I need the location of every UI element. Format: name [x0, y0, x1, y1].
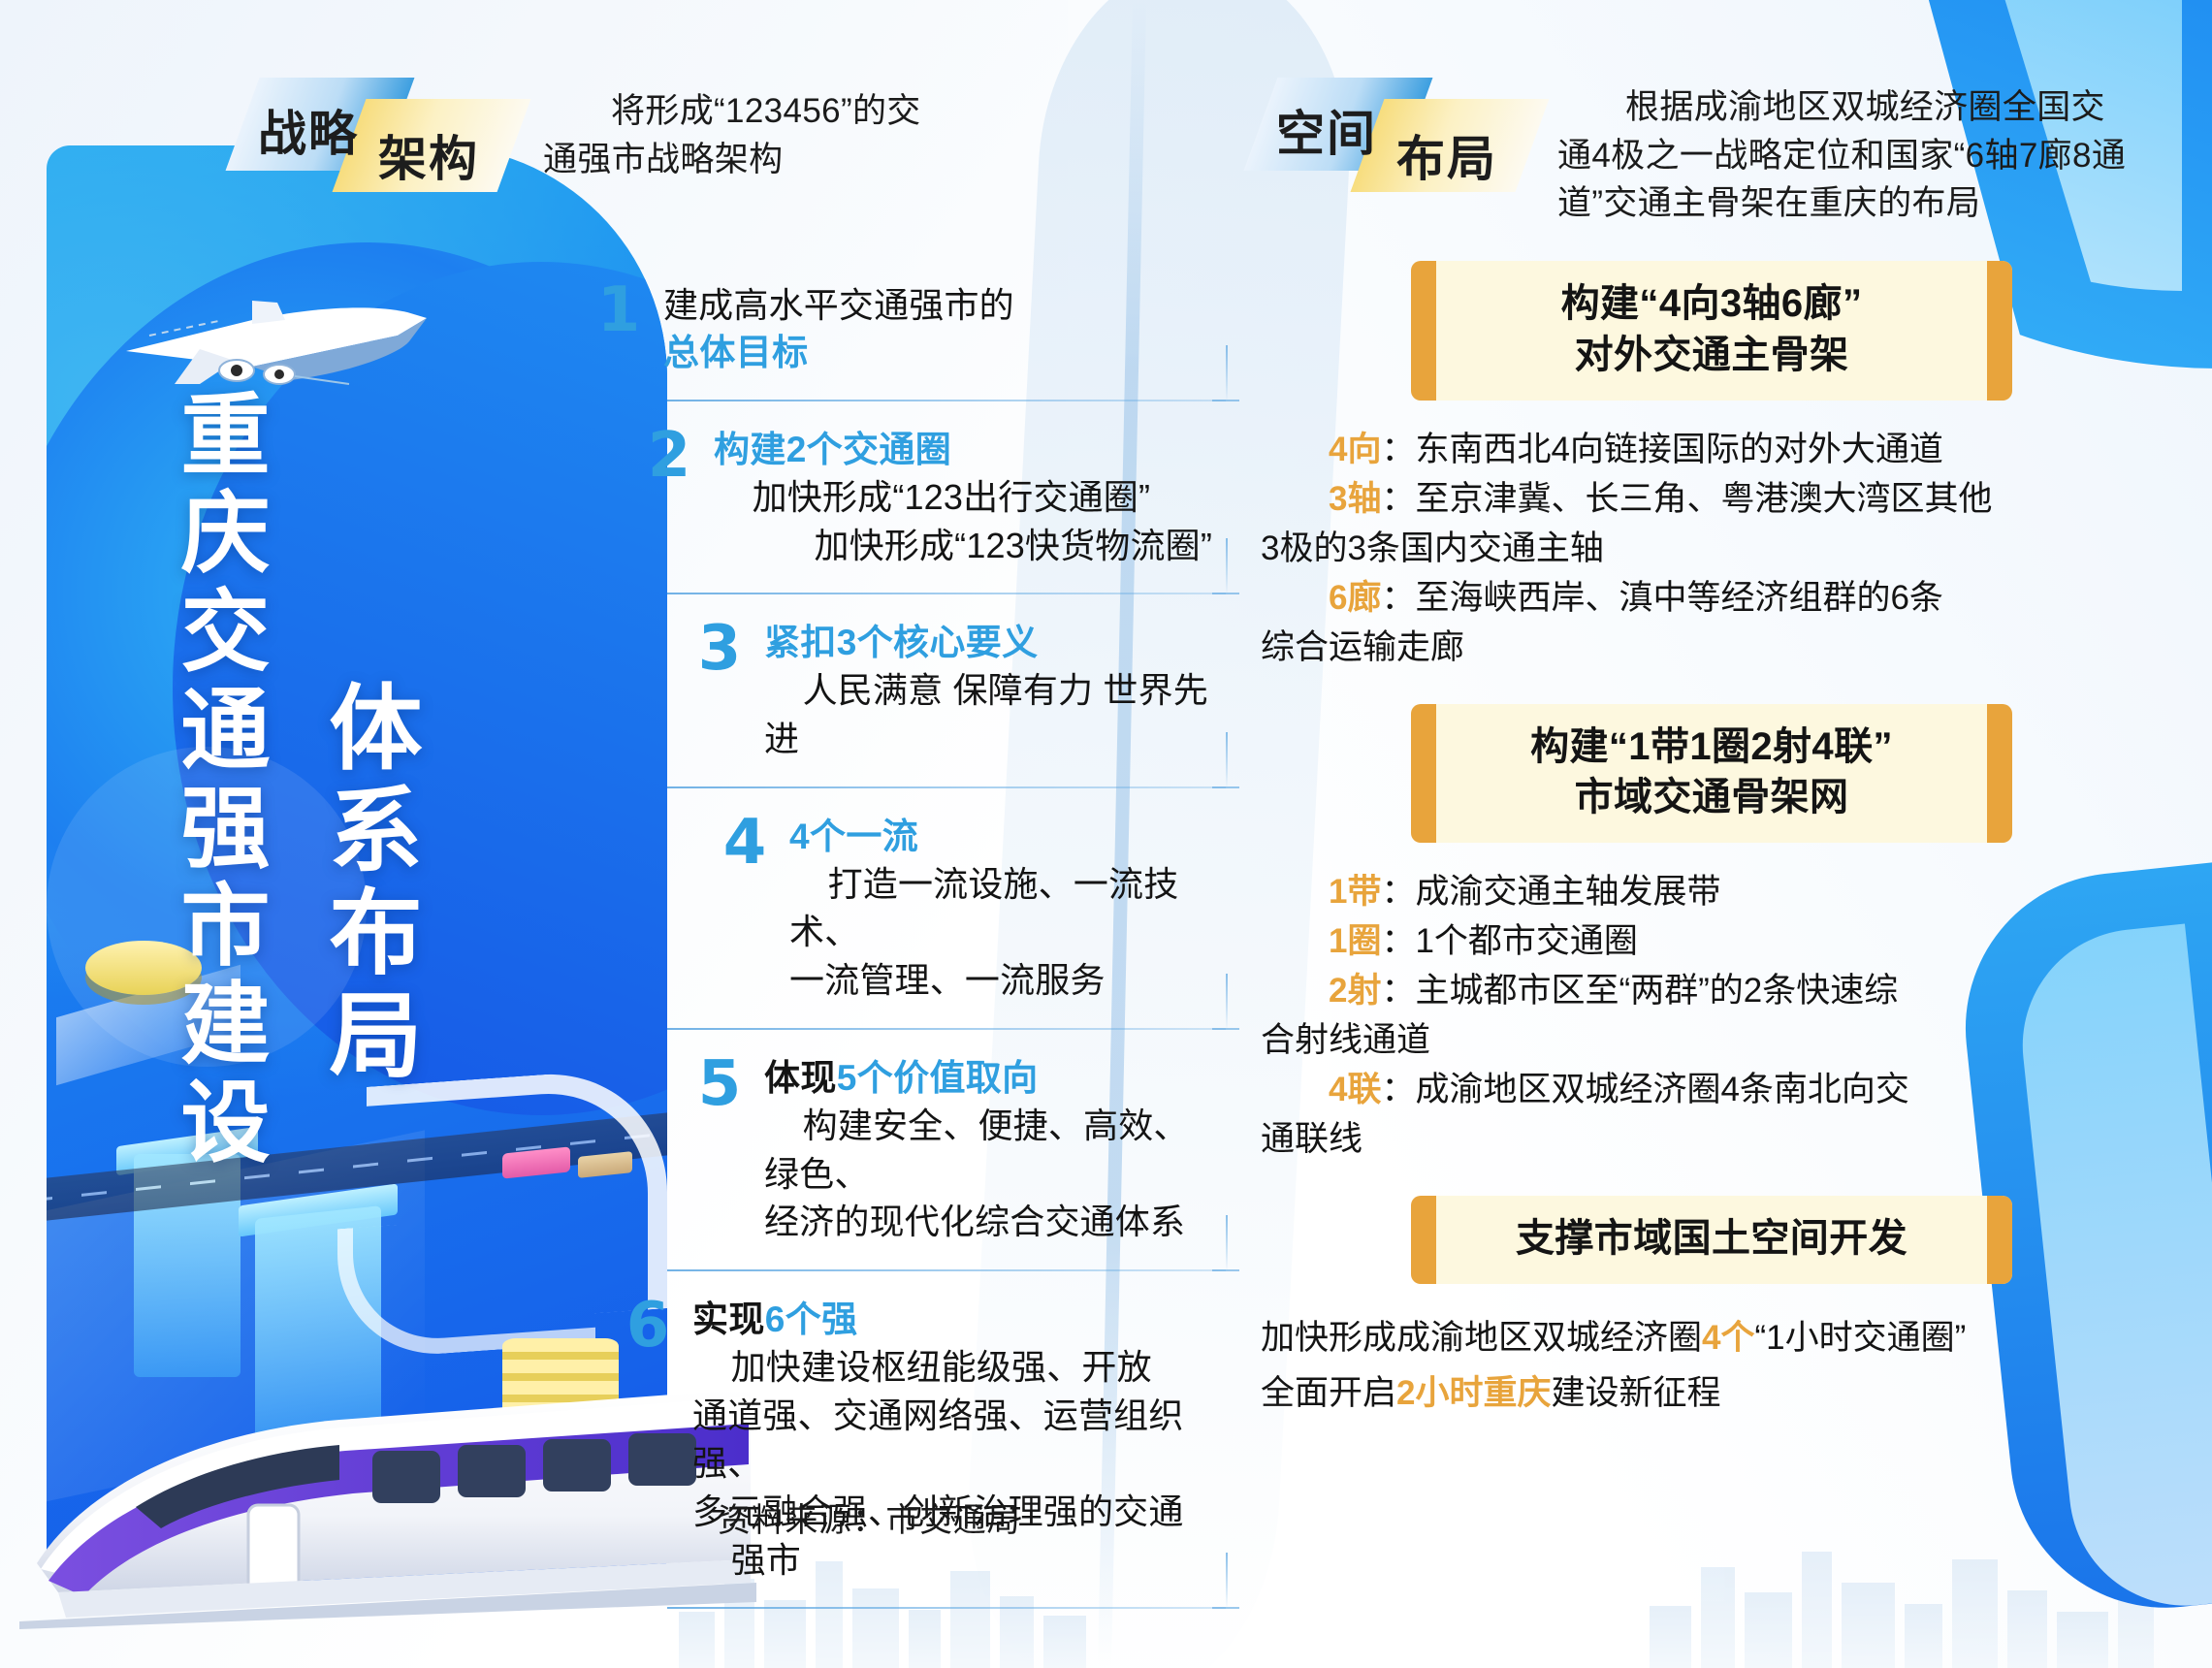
detail-label: 1带: [1329, 873, 1381, 911]
airplane-icon: [107, 291, 436, 407]
closing-2c: 建设新征程: [1551, 1374, 1720, 1412]
framework-box-1: 构建“4向3轴6廊” 对外交通主骨架: [1411, 261, 2012, 401]
item-title-accent: 6个强: [765, 1299, 858, 1339]
detail-text: ：主城都市区至“两群”的2条快速综: [1381, 972, 1898, 1010]
detail-text: ：至京津冀、长三角、粤港澳大湾区其他: [1381, 480, 1992, 518]
list-item: 2 构建2个交通圈 加快形成“123出行交通圈” 加快形成“123快货物流圈”: [592, 427, 1212, 594]
poster-canvas: 重庆交通强市建设 体系布局 战略 架构 将形成“123456”的交通强市战略架构…: [0, 0, 2212, 1668]
closing-1a: 加快形成成渝地区双城经济圈: [1261, 1319, 1702, 1357]
framework-box-1-line-1: 构建“4向3轴6廊”: [1411, 278, 2012, 330]
item-title-accent: 总体目标: [663, 330, 1212, 376]
framework-1-details: 4向：东南西北4向链接国际的对外大通道 3轴：至京津冀、长三角、粤港澳大湾区其他…: [1261, 426, 2163, 671]
detail-line: 3轴：至京津冀、长三角、粤港澳大湾区其他: [1261, 475, 2163, 523]
spatial-tag-word-2: 布局: [1396, 120, 1497, 190]
detail-line: 综合运输走廊: [1261, 624, 2163, 671]
vertical-title-main: 重庆交通强市建设: [173, 388, 262, 1173]
detail-text: ：1个都市交通圈: [1381, 922, 1637, 960]
list-item: 1 建成高水平交通强市的 总体目标: [592, 281, 1212, 401]
item-number: 1: [592, 281, 646, 340]
spatial-section-header: 空间 布局 根据成渝地区双城经济圈全国交通4极之一战略定位和国家“6轴7廊8通道…: [1261, 78, 2163, 228]
detail-label: 2射: [1329, 972, 1381, 1010]
item-line: 人民满意 保障有力 世界先进: [764, 666, 1212, 762]
item-line: 打造一流设施、一流技术、: [789, 860, 1212, 956]
strategy-tag-word-1: 战略: [258, 95, 359, 165]
item-line: 加快形成“123快货物流圈”: [714, 522, 1212, 570]
item-divider: [667, 1269, 1226, 1271]
item-number: 5: [692, 1055, 747, 1114]
detail-label: 6廊: [1329, 579, 1381, 617]
strategy-item-list: 1 建成高水平交通强市的 总体目标 2 构建2个交通圈 加快形成“123出行交通…: [592, 281, 1212, 1634]
closing-1b: 4个: [1702, 1319, 1754, 1357]
detail-text: 3极的3条国内交通主轴: [1261, 529, 1604, 567]
detail-line: 6廊：至海峡西岸、滇中等经济组群的6条: [1261, 574, 2163, 622]
item-number: 2: [642, 427, 696, 486]
source-attribution: 资料来源：市交通局: [718, 1493, 1020, 1541]
detail-label: 1圈: [1329, 922, 1381, 960]
spatial-tag-word-1: 空间: [1276, 95, 1377, 165]
strategy-section-header: 战略 架构 将形成“123456”的交通强市战略架构: [242, 78, 979, 183]
item-line: 加快建设枢纽能级强、开放: [692, 1343, 1212, 1392]
detail-text: 通联线: [1261, 1120, 1362, 1158]
detail-text: 综合运输走廊: [1261, 628, 1464, 666]
detail-label: 4联: [1329, 1071, 1381, 1108]
strategy-tag-group: 战略 架构: [242, 78, 504, 171]
item-title-accent: 紧扣3个核心要义: [764, 620, 1212, 666]
item-title-accent: 构建2个交通圈: [714, 427, 1212, 473]
item-divider: [667, 1028, 1226, 1030]
closing-2b: 2小时重庆: [1396, 1374, 1551, 1412]
item-title-dark: 实现: [692, 1299, 765, 1339]
item-line: 经济的现代化综合交通体系: [764, 1198, 1212, 1246]
strategy-lead-text: 将形成“123456”的交通强市战略架构: [543, 87, 950, 183]
item-title-accent: 5个价值取向: [837, 1058, 1039, 1098]
framework-box-2-line-2: 市域交通骨架网: [1411, 772, 2012, 823]
item-divider: [667, 400, 1226, 401]
detail-label: 3轴: [1329, 480, 1381, 518]
detail-text: 合射线通道: [1261, 1021, 1430, 1059]
item-title-accent: 4个一流: [789, 814, 1212, 860]
item-line: 构建安全、便捷、高效、绿色、: [764, 1102, 1212, 1198]
detail-text: ：至海峡西岸、滇中等经济组群的6条: [1381, 579, 1942, 617]
detail-line: 4向：东南西北4向链接国际的对外大通道: [1261, 426, 2163, 473]
list-item: 6 实现6个强 加快建设枢纽能级强、开放 通道强、交通网络强、运营组织强、 多元…: [592, 1297, 1212, 1609]
spatial-lead-text: 根据成渝地区双城经济圈全国交通4极之一战略定位和国家“6轴7廊8通道”交通主骨架…: [1557, 83, 2139, 228]
framework-box-2: 构建“1带1圈2射4联” 市域交通骨架网: [1411, 704, 2012, 844]
list-item: 5 体现5个价值取向 构建安全、便捷、高效、绿色、 经济的现代化综合交通体系: [592, 1055, 1212, 1271]
detail-line: 3极的3条国内交通主轴: [1261, 525, 2163, 572]
item-divider: [667, 593, 1226, 594]
item-line: 一流管理、一流服务: [789, 956, 1212, 1005]
item-line: 强市: [692, 1536, 1212, 1585]
detail-text: ：东南西北4向链接国际的对外大通道: [1381, 431, 1942, 468]
item-divider: [667, 1607, 1226, 1609]
item-title-dark: 体现: [764, 1058, 837, 1098]
detail-text: ：成渝地区双城经济圈4条南北向交: [1381, 1071, 1908, 1108]
spatial-tag-group: 空间 布局: [1261, 78, 1523, 171]
list-item: 3 紧扣3个核心要义 人民满意 保障有力 世界先进: [592, 620, 1212, 787]
item-number: 4: [718, 814, 772, 873]
vertical-title-sub: 体系布局: [320, 679, 413, 1088]
item-line: 通道强、交通网络强、运营组织强、: [692, 1392, 1212, 1488]
list-item: 4 4个一流 打造一流设施、一流技术、 一流管理、一流服务: [592, 814, 1212, 1030]
item-divider: [667, 786, 1226, 788]
framework-box-2-line-1: 构建“1带1圈2射4联”: [1411, 722, 2012, 773]
framework-box-1-line-2: 对外交通主骨架: [1411, 330, 2012, 381]
detail-text: ：成渝交通主轴发展带: [1381, 873, 1720, 911]
item-number: 3: [692, 620, 747, 679]
item-number: 6: [621, 1297, 675, 1356]
strategy-tag-word-2: 架构: [378, 120, 479, 190]
item-line: 加快形成“123出行交通圈”: [714, 473, 1212, 522]
spatial-layout-panel: 空间 布局 根据成渝地区双城经济圈全国交通4极之一战略定位和国家“6轴7廊8通道…: [1261, 78, 2163, 1424]
framework-box-3: 支撑市域国土空间开发: [1411, 1196, 2012, 1284]
detail-label: 4向: [1329, 431, 1381, 468]
item-title-dark: 建成高水平交通强市的: [663, 281, 1212, 330]
closing-1c: “1小时交通圈”: [1754, 1319, 1966, 1357]
closing-2a: 全面开启: [1261, 1374, 1396, 1412]
framework-box-3-line-1: 支撑市域国土空间开发: [1411, 1213, 2012, 1265]
